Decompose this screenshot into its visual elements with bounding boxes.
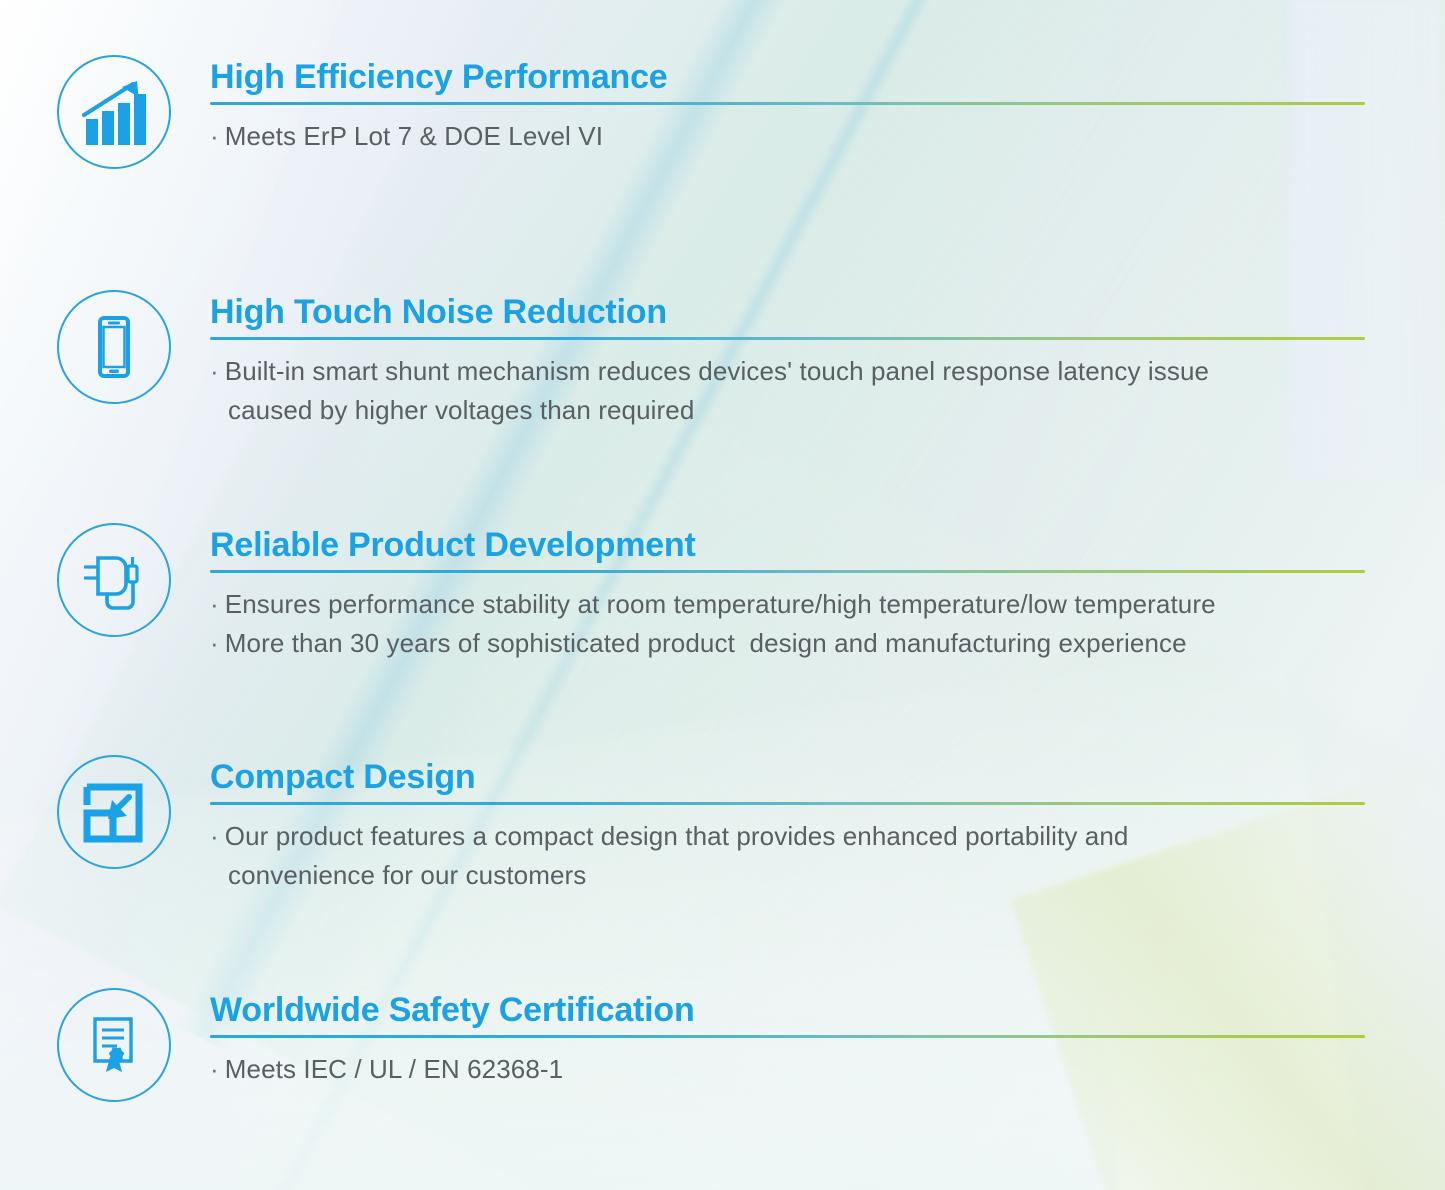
- bullet-line: caused by higher voltages than required: [210, 391, 1370, 430]
- bullet-text: caused by higher voltages than required: [228, 395, 694, 425]
- bullet-text: Ensures performance stability at room te…: [225, 589, 1216, 619]
- title-divider: [210, 570, 1365, 573]
- feature-title: High Touch Noise Reduction: [210, 292, 1370, 332]
- bullet-line: ·Ensures performance stability at room t…: [210, 585, 1370, 624]
- feature-title: Worldwide Safety Certification: [210, 990, 1370, 1030]
- title-divider: [210, 802, 1365, 805]
- title-divider: [210, 337, 1365, 340]
- feature-bullets: ·Built-in smart shunt mechanism reduces …: [210, 352, 1370, 430]
- certificate-award-icon: [57, 988, 171, 1102]
- bullet-marker: ·: [210, 821, 219, 851]
- bullet-text: Our product features a compact design th…: [225, 821, 1129, 851]
- bullet-text: Built-in smart shunt mechanism reduces d…: [225, 356, 1209, 386]
- feature-title: High Efficiency Performance: [210, 57, 1370, 97]
- feature-title: Compact Design: [210, 757, 1370, 797]
- power-adapter-icon: [57, 523, 171, 637]
- bullet-line: ·Meets IEC / UL / EN 62368-1: [210, 1050, 1370, 1089]
- bullet-text: convenience for our customers: [228, 860, 586, 890]
- bullet-text: More than 30 years of sophisticated prod…: [225, 628, 1187, 658]
- bullet-marker: ·: [210, 356, 219, 386]
- bullet-marker: ·: [210, 1054, 219, 1084]
- bullet-text: Meets IEC / UL / EN 62368-1: [225, 1054, 563, 1084]
- bullet-marker: ·: [210, 589, 219, 619]
- feature-bullets: ·Ensures performance stability at room t…: [210, 585, 1370, 663]
- title-divider: [210, 1035, 1365, 1038]
- bullet-line: ·Our product features a compact design t…: [210, 817, 1370, 856]
- title-divider: [210, 102, 1365, 105]
- bullet-line: ·Built-in smart shunt mechanism reduces …: [210, 352, 1370, 391]
- bullet-marker: ·: [210, 628, 219, 658]
- bullet-line: ·More than 30 years of sophisticated pro…: [210, 624, 1370, 663]
- smartphone-icon: [57, 290, 171, 404]
- feature-bullets: ·Our product features a compact design t…: [210, 817, 1370, 895]
- bullet-line: convenience for our customers: [210, 856, 1370, 895]
- feature-title: Reliable Product Development: [210, 525, 1370, 565]
- bar-chart-growth-icon: [57, 55, 171, 169]
- bullet-line: ·Meets ErP Lot 7 & DOE Level VI: [210, 117, 1370, 156]
- bullet-marker: ·: [210, 121, 219, 151]
- bullet-text: Meets ErP Lot 7 & DOE Level VI: [225, 121, 603, 151]
- compact-resize-icon: [57, 755, 171, 869]
- feature-bullets: ·Meets IEC / UL / EN 62368-1: [210, 1050, 1370, 1089]
- infographic-page: High Efficiency Performance ·Meets ErP L…: [0, 0, 1445, 1190]
- feature-bullets: ·Meets ErP Lot 7 & DOE Level VI: [210, 117, 1370, 156]
